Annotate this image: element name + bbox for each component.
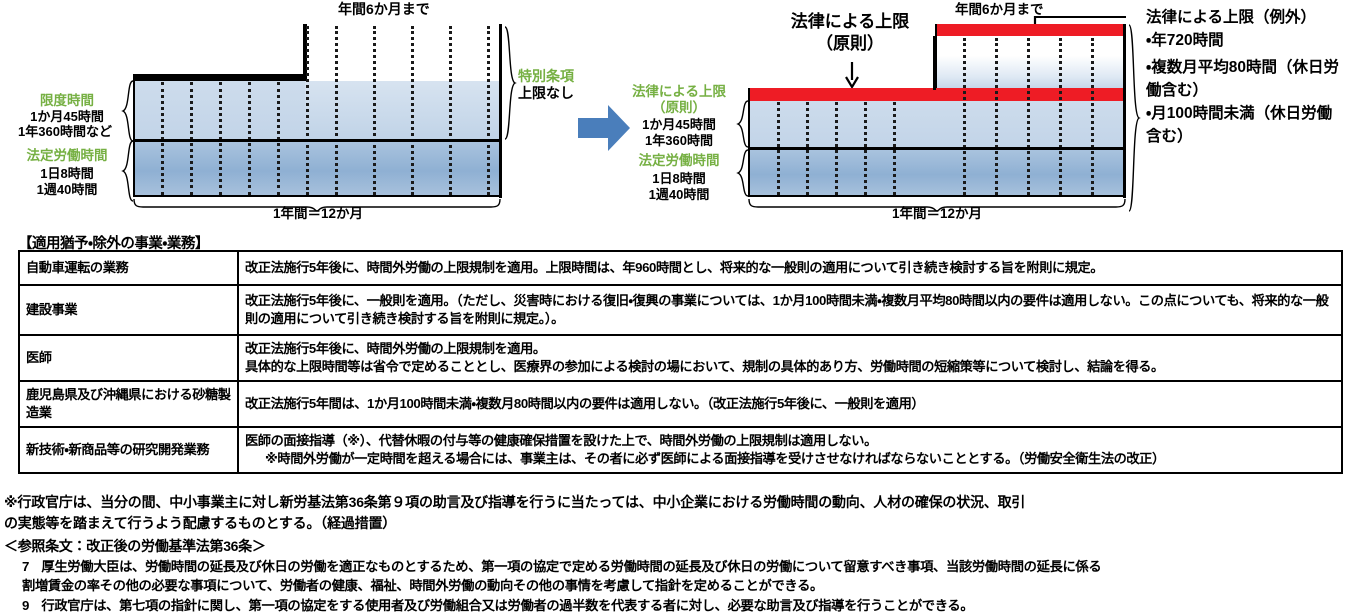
right-chart-exception-item3: ・月100時間未満（休日労働含む） [1146,102,1346,148]
right-chart-topnote-connector [1034,16,1126,18]
table-row: 新技術・新商品等の研究開発業務 医師の面接指導（※）、代替休暇の付与等の健康確保… [19,427,1342,473]
right-chart-legal-band [748,148,1125,197]
right-chart-limit-band [748,101,1125,148]
left-chart-top-note: 年間6か月まで [338,2,430,17]
desc-line: 改正法施行5年後に、一般則を適用。（ただし、災害時における復旧・復興の事業につい… [245,293,1328,326]
left-chart-right-border [499,24,502,198]
table-cell-description: 医師の面接指導（※）、代替休暇の付与等の健康確保措置を設けた上で、時間外労働の上… [238,427,1342,473]
reference-articles: 7 厚生労働大臣は、労働時間の延長及び休日の労働を適正なものとするため、第一項の… [4,557,1348,615]
left-chart-legal-line2: 1週40時間 [8,182,126,197]
right-chart-step-edge [933,36,936,90]
table-cell-category: 鹿児島県及び沖縄県における砂糖製造業 [19,381,238,427]
left-chart-special-brace [503,26,516,140]
right-chart-month-separator [1091,38,1094,195]
right-chart-limit-title-line2: （原則） [620,100,738,115]
desc-line: 医師の面接指導（※）、代替休暇の付与等の健康確保措置を設けた上で、時間外労働の上… [245,432,1335,450]
right-chart-limit-title-line1: 法律による上限 [620,84,738,99]
right-chart-month-separator [963,38,966,195]
right-chart-principle-red-cap [748,88,1125,101]
desc-line: 改正法施行5年後に、時間外労働の上限規制を適用。 [245,340,1335,358]
table-row: 鹿児島県及び沖縄県における砂糖製造業 改正法施行5年間は、1か月100時間未満・… [19,381,1342,427]
right-chart-axis-label: 1年間＝12か月 [812,206,1062,221]
left-chart-legal-line1: 1日8時間 [8,166,126,181]
article-text-line1: 行政官庁は、第七項の指針に関し、第一項の協定をする使用者及び労働組合又は労働者の… [41,598,973,613]
right-chart-divider [748,147,1126,150]
right-chart-exception-brace [1127,24,1140,212]
footnote-note: ※行政官庁は、当分の間、中小事業主に対し新労基法第36条第９項の助言及び指導を行… [4,492,1348,534]
table-cell-description: 改正法施行5年間は、1か月100時間未満・複数月80時間以内の要件は適用しない。… [238,381,1342,427]
left-chart-step-edge [303,24,306,76]
table-row: 自動車運転の業務 改正法施行5年後に、時間外労働の上限規制を適用。上限時間は、年… [19,251,1342,285]
left-chart-limit-line1: 1か月45時間 [8,109,126,124]
table-cell-description: 改正法施行5年後に、一般則を適用。（ただし、災害時における復旧・復興の事業につい… [238,285,1342,335]
left-chart-limit-brace [122,80,134,142]
left-chart-limit-line2: 1年360時間など [0,124,130,139]
right-chart-callout-arrow-icon [845,62,859,88]
right-chart-limit-line2: 1年360時間 [620,133,738,148]
table-row: 建設事業 改正法施行5年後に、一般則を適用。（ただし、災害時における復旧・復興の… [19,285,1342,335]
article-item: 7 厚生労働大臣は、労働時間の延長及び休日の労働を適正なものとするため、第一項の… [4,557,1348,596]
right-chart-legal-brace [737,149,749,197]
exemption-table: 自動車運転の業務 改正法施行5年後に、時間外労働の上限規制を適用。上限時間は、年… [18,250,1343,474]
footnote-note-line2: の実態等を踏まえて行うよう配慮するものとする。（経過措置） [4,513,1348,534]
right-chart-exception-title: 法律による上限（例外） [1146,10,1316,25]
left-chart-limit-title: 限度時間 [8,93,126,108]
table-cell-category: 建設事業 [19,285,238,335]
article-number: 7 [22,559,29,574]
right-chart-right-border [1123,24,1126,198]
table-cell-category: 新技術・新商品等の研究開発業務 [19,427,238,473]
left-chart-legal-title: 法定労働時間 [8,148,126,163]
right-chart-limit-brace [737,100,749,148]
desc-line: ※時間外労働が一定時間を超える場合には、事業主は、その者に必ず医師による面接指導… [245,450,1335,468]
reference-heading: ＜参照条文：改正後の労働基準法第36条＞ [4,536,1348,557]
desc-line: 具体的な上限時間等は省令で定めることとし、医療界の参加による検討の場において、規… [245,358,1335,376]
left-chart-month-separator [449,26,452,195]
exemption-table-wrapper: 自動車運転の業務 改正法施行5年後に、時間外労働の上限規制を適用。上限時間は、年… [18,250,1343,474]
left-chart-legal-band [133,140,501,197]
right-chart-exception-item2: ・複数月平均80時間（休日労働含む） [1146,56,1346,102]
table-cell-category: 自動車運転の業務 [19,251,238,285]
left-chart-month-separator [373,26,376,195]
right-chart-top-note: 年間6か月まで [955,2,1044,17]
table-row: 医師 改正法施行5年後に、時間外労働の上限規制を適用。 具体的な上限時間等は省令… [19,335,1342,381]
desc-line: 改正法施行5年後に、時間外労働の上限規制を適用。上限時間は、年960時間とし、将… [245,260,1103,275]
table-cell-description: 改正法施行5年後に、時間外労働の上限規制を適用。 具体的な上限時間等は省令で定め… [238,335,1342,381]
right-chart-exception-item1: ・年720時間 [1146,33,1224,48]
right-chart-legal-line1: 1日8時間 [620,171,738,186]
overtime-limit-diagram: 年間6か月まで 限度時間 1か月45時間 1年360時間など 法定労働時間 1日… [0,0,1350,232]
left-chart-divider [133,139,502,142]
right-chart-legal-line2: 1週40時間 [620,187,738,202]
left-chart-legal-brace [122,140,134,202]
article-number: 9 [22,598,29,613]
right-chart-limit-line1: 1か月45時間 [620,117,738,132]
table-cell-category: 医師 [19,335,238,381]
right-chart-exception-red-cap [935,24,1125,36]
article-text-line1: 厚生労働大臣は、労働時間の延長及び休日の労働を適正なものとするため、第一項の協定… [41,559,1101,574]
left-chart-special-label-line1: 特別条項 [518,69,574,84]
desc-line: 改正法施行5年間は、1か月100時間未満・複数月80時間以内の要件は適用しない。… [245,396,924,411]
article-text-line2: 割増賃金の率その他の必要な事項について、労働者の健康、福祉、時間外労働の動向その… [40,576,1348,595]
left-chart-month-separator [411,26,414,195]
article-item: 9 行政官庁は、第七項の指針に関し、第一項の協定をする使用者及び労働組合又は労働… [4,596,1348,615]
footnotes: ※行政官庁は、当分の間、中小事業主に対し新労基法第36条第９項の助言及び指導を行… [4,492,1348,615]
right-chart-month-separator [995,38,998,195]
right-chart-callout-principle-line1: 法律による上限 [760,14,940,29]
left-chart-axis-label: 1年間＝12か月 [193,206,443,221]
left-chart-month-separator [335,26,338,195]
left-chart-top-cap [133,74,307,81]
footnote-note-line1: ※行政官庁は、当分の間、中小事業主に対し新労基法第36条第９項の助言及び指導を行… [4,494,1025,510]
right-chart-month-separator [1027,38,1030,195]
table-cell-description: 改正法施行5年後に、時間外労働の上限規制を適用。上限時間は、年960時間とし、将… [238,251,1342,285]
right-chart-legal-title: 法定労働時間 [620,153,738,168]
left-chart-month-separator [306,26,309,195]
right-chart-callout-principle-line2: （原則） [760,36,940,51]
left-chart-month-separator [487,26,490,195]
left-chart-special-label-line2: 上限なし [518,86,574,101]
right-chart-month-separator [1059,38,1062,195]
